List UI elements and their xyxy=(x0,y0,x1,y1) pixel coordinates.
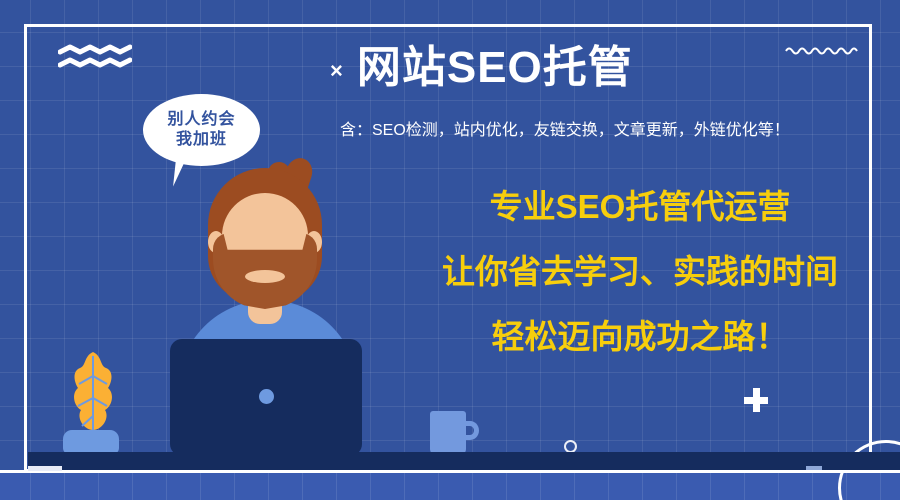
speech-bubble: 别人约会 我加班 xyxy=(143,94,260,166)
plant-pot xyxy=(63,430,119,454)
seo-poster: × 网站SEO托管 含：SEO检测，站内优化，友链交换，文章更新，外链优化等！ … xyxy=(0,0,900,500)
coffee-mug xyxy=(430,411,466,455)
plant-leaves xyxy=(62,350,124,436)
desk-surface xyxy=(28,452,900,472)
speech-bubble-line-2: 我加班 xyxy=(176,130,227,150)
laptop-logo-icon xyxy=(259,389,274,404)
desk-highlight-left xyxy=(28,466,62,471)
desk-edge-line xyxy=(0,470,900,473)
speech-bubble-line-1: 别人约会 xyxy=(167,110,235,130)
desk-highlight-right xyxy=(806,466,822,470)
mouth xyxy=(245,270,285,283)
